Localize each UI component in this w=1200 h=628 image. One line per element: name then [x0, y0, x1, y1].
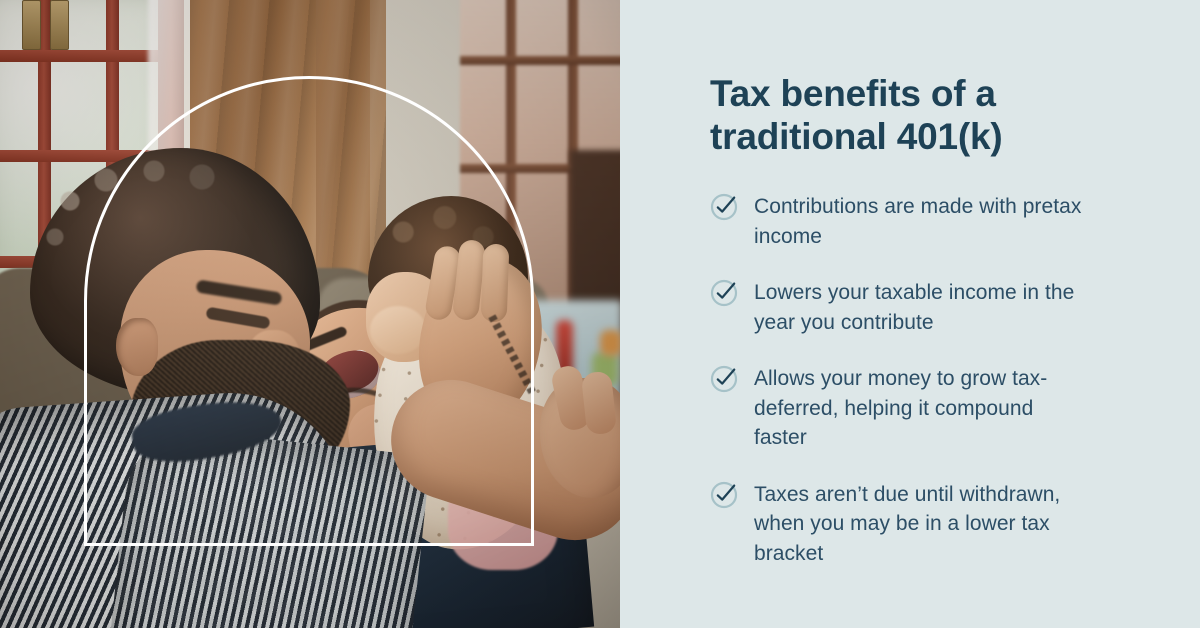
list-item: Taxes aren’t due until withdrawn, when y…	[710, 480, 1116, 569]
list-item-label: Contributions are made with pretax incom…	[754, 192, 1084, 251]
photo-panel	[0, 0, 620, 628]
check-circle-icon	[710, 481, 738, 509]
man-ear	[116, 318, 158, 376]
window-mullion-horizontal	[460, 56, 620, 65]
background-object	[600, 330, 620, 356]
baby-cheek	[370, 306, 426, 354]
infographic-card: Tax benefits of a traditional 401(k) Con…	[0, 0, 1200, 628]
page-title: Tax benefits of a traditional 401(k)	[710, 72, 1116, 158]
list-item-label: Taxes aren’t due until withdrawn, when y…	[754, 480, 1084, 569]
window-latch	[22, 0, 41, 50]
check-circle-icon	[710, 279, 738, 307]
benefit-list: Contributions are made with pretax incom…	[710, 192, 1116, 568]
list-item-label: Allows your money to grow tax-deferred, …	[754, 364, 1084, 453]
list-item-label: Lowers your taxable income in the year y…	[754, 278, 1084, 337]
list-item: Contributions are made with pretax incom…	[710, 192, 1116, 251]
window-latch	[50, 0, 69, 50]
check-circle-icon	[710, 193, 738, 221]
list-item: Lowers your taxable income in the year y…	[710, 278, 1116, 337]
check-circle-icon	[710, 365, 738, 393]
content-panel: Tax benefits of a traditional 401(k) Con…	[620, 0, 1200, 628]
finger	[481, 244, 510, 323]
list-item: Allows your money to grow tax-deferred, …	[710, 364, 1116, 453]
family-photo	[0, 0, 620, 628]
window-mullion-horizontal	[0, 50, 168, 62]
